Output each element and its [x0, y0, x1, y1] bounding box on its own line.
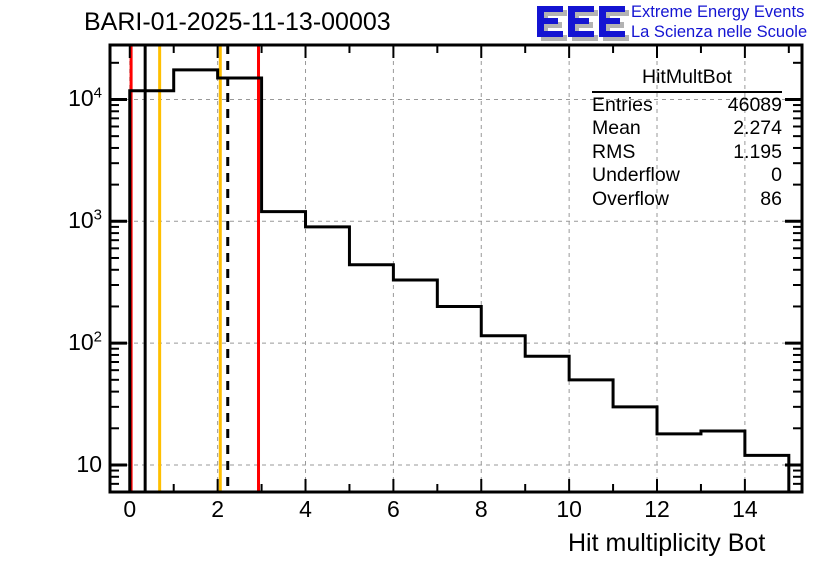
- x-tick-label: 10: [539, 497, 599, 522]
- y-tick-label: 10: [20, 452, 102, 477]
- stats-row: Mean2.274: [592, 117, 782, 141]
- x-tick-label: 8: [451, 497, 511, 522]
- stats-title: HitMultBot: [592, 66, 782, 93]
- x-tick-label: 4: [276, 497, 336, 522]
- stats-value: 46089: [728, 94, 782, 118]
- stats-value: 1.195: [733, 141, 782, 165]
- stats-box: HitMultBot Entries46089Mean2.274RMS1.195…: [592, 66, 782, 211]
- y-tick-label: 103: [20, 208, 102, 233]
- stats-row: Entries46089: [592, 94, 782, 118]
- stats-key: Mean: [592, 117, 641, 141]
- eee-logo-letters: [537, 6, 625, 37]
- eee-logo-line2: La Scienza nelle Scuole: [631, 22, 807, 42]
- stats-key: Underflow: [592, 164, 680, 188]
- stats-value: 2.274: [733, 117, 782, 141]
- eee-logo-line1: Extreme Energy Events: [631, 2, 807, 22]
- y-tick-label: 104: [20, 86, 102, 111]
- x-tick-label: 2: [188, 497, 248, 522]
- page-title: BARI-01-2025-11-13-00003: [84, 8, 391, 36]
- y-tick-label: 102: [20, 330, 102, 355]
- eee-logo: Extreme Energy Events La Scienza nelle S…: [537, 2, 833, 44]
- stats-key: Entries: [592, 94, 653, 118]
- stats-key: RMS: [592, 141, 635, 165]
- stats-row: Overflow86: [592, 188, 782, 212]
- x-axis-title: Hit multiplicity Bot: [568, 529, 765, 558]
- x-tick-label: 6: [363, 497, 423, 522]
- stats-row: Underflow0: [592, 164, 782, 188]
- stats-value: 0: [771, 164, 782, 188]
- stats-value: 86: [760, 188, 782, 212]
- eee-logo-mark: [537, 2, 629, 42]
- x-tick-label: 0: [100, 497, 160, 522]
- stats-key: Overflow: [592, 188, 669, 212]
- eee-logo-text: Extreme Energy Events La Scienza nelle S…: [631, 2, 807, 42]
- stats-row: RMS1.195: [592, 141, 782, 165]
- x-tick-label: 14: [715, 497, 775, 522]
- x-tick-label: 12: [627, 497, 687, 522]
- stats-rows: Entries46089Mean2.274RMS1.195Underflow0O…: [592, 94, 782, 212]
